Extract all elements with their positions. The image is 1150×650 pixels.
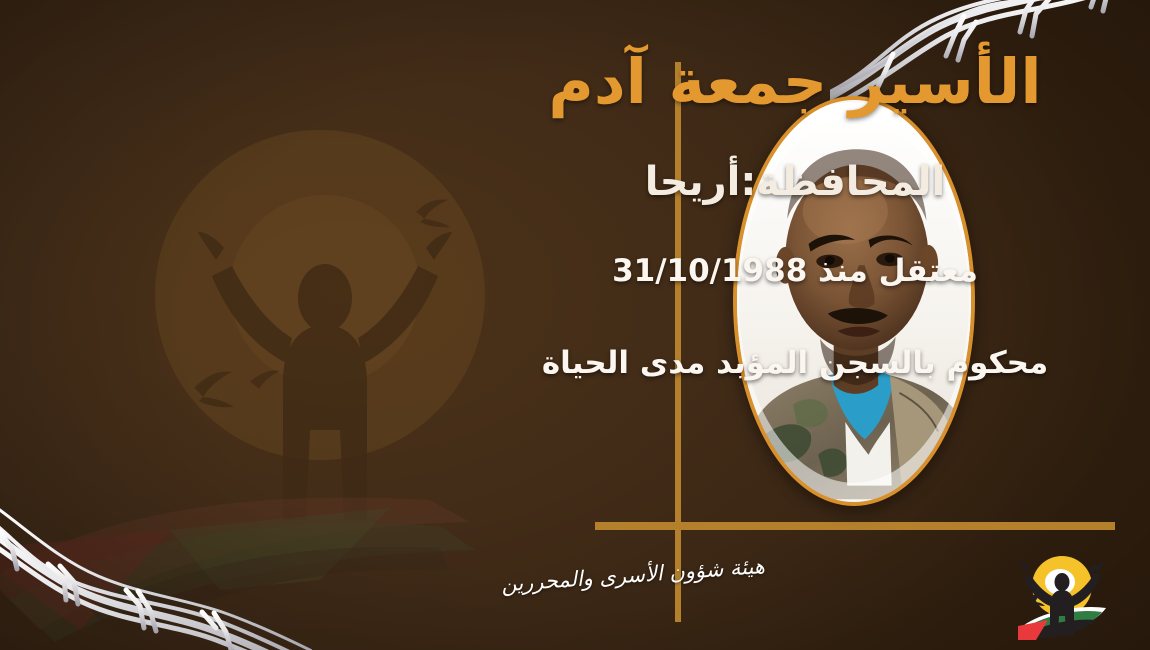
sentence-line: محكوم بالسجن المؤبد مدى الحياة [480, 345, 1110, 381]
page-title: الأسير جمعة آدم [480, 46, 1110, 117]
governorate-line: المحافظة:أريحا [480, 159, 1110, 205]
prisoner-info-block: الأسير جمعة آدم المحافظة:أريحا معتقل منذ… [480, 46, 1110, 381]
prisoner-poster: الأسير جمعة آدم المحافظة:أريحا معتقل منذ… [0, 0, 1150, 650]
detained-since-line: معتقل منذ 31/10/1988 [480, 253, 1110, 289]
horizontal-divider [595, 522, 1115, 530]
commission-logo [1000, 548, 1120, 644]
